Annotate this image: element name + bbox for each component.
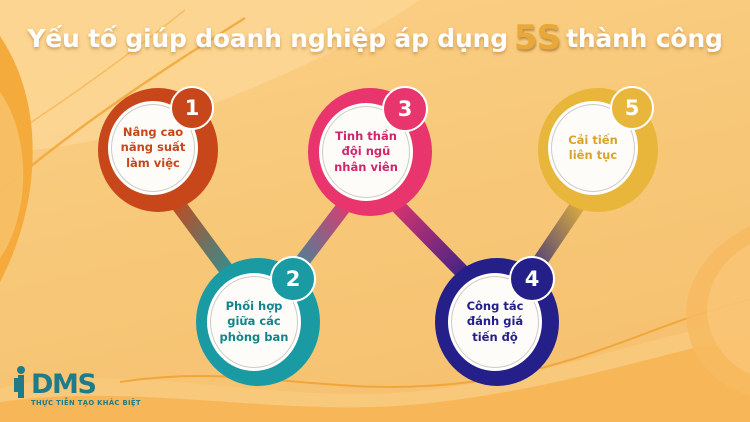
brand-logo: DMS THỰC TIỄN TẠO KHÁC BIỆT — [14, 366, 141, 407]
step-5-line2: liên tục — [568, 148, 618, 163]
step-3-line2: đội ngũ — [334, 144, 398, 159]
step-node-3[interactable]: Tinh thần đội ngũ nhân viên 3 — [308, 88, 432, 216]
step-5-number: 5 — [625, 98, 640, 119]
step-5-badge: 5 — [610, 86, 654, 130]
step-3-number: 3 — [398, 99, 413, 120]
step-node-1[interactable]: Nâng cao năng suất làm việc 1 — [98, 88, 218, 212]
step-1-number: 1 — [185, 98, 200, 119]
title-text-after: thành công — [566, 24, 723, 53]
step-4-line3: tiến độ — [467, 330, 524, 345]
step-2-badge: 2 — [270, 256, 316, 302]
step-1-line3: làm việc — [121, 156, 186, 171]
title-accent-5s: 5S — [508, 18, 566, 58]
page-title: Yếu tố giúp doanh nghiệp áp dụng5Sthành … — [0, 18, 750, 58]
step-5-line1: Cải tiến — [568, 133, 618, 148]
step-2-line2: giữa các — [220, 314, 289, 329]
step-4-line2: đánh giá — [467, 314, 524, 329]
step-3-line1: Tinh thần — [334, 129, 398, 144]
step-2-line3: phòng ban — [220, 330, 289, 345]
step-2-number: 2 — [286, 269, 301, 290]
step-4-number: 4 — [525, 269, 540, 290]
step-4-line1: Công tác — [467, 299, 524, 314]
step-node-2[interactable]: Phối hợp giữa các phòng ban 2 — [196, 258, 320, 386]
person-icon — [14, 366, 30, 398]
step-4-badge: 4 — [509, 256, 555, 302]
step-1-badge: 1 — [170, 86, 214, 130]
step-1-line2: năng suất — [121, 140, 186, 155]
step-node-5[interactable]: Cải tiến liên tục 5 — [538, 88, 658, 212]
step-1-line1: Nâng cao — [121, 125, 186, 140]
infographic-canvas: Yếu tố giúp doanh nghiệp áp dụng5Sthành … — [0, 0, 750, 422]
logo-tagline: THỰC TIỄN TẠO KHÁC BIỆT — [31, 399, 141, 407]
step-2-line1: Phối hợp — [220, 299, 289, 314]
step-3-badge: 3 — [382, 86, 428, 132]
logo-wordmark: DMS — [31, 373, 96, 398]
title-text-before: Yếu tố giúp doanh nghiệp áp dụng — [27, 24, 508, 53]
step-3-line3: nhân viên — [334, 160, 398, 175]
step-node-4[interactable]: Công tác đánh giá tiến độ 4 — [435, 258, 559, 386]
